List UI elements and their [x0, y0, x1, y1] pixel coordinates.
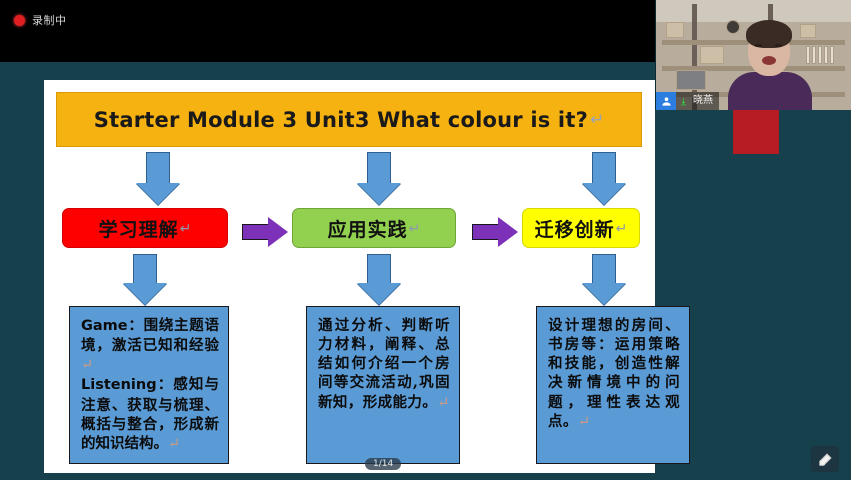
recording-indicator: 录制中 — [14, 12, 67, 28]
participant-video-tile[interactable]: 晓燕 — [655, 0, 851, 110]
user-icon[interactable] — [656, 92, 676, 110]
purple-arrow-2 — [472, 217, 518, 247]
content-box-innovation: 设计理想的房间、书房等：运用策略和技能，创造性解决新情境中的问题，理性表达观点。… — [536, 306, 690, 464]
content-box-application: 通过分析、判断听力材料，阐释、总结如何介绍一个房间等交流活动,巩固新知，形成能力… — [306, 306, 460, 464]
stage-pilcrow-2: ↵ — [409, 220, 421, 237]
content-text-learning-1: Game：围绕主题语境，激活已知和经验↵ — [81, 316, 219, 375]
purple-arrow-1 — [242, 217, 288, 247]
content-text-innovation: 设计理想的房间、书房等：运用策略和技能，创造性解决新情境中的问题，理性表达观点。… — [548, 316, 680, 432]
participant-name-label: 晓燕 — [690, 92, 719, 110]
title-pilcrow-icon: ↵ — [590, 110, 604, 130]
participant-body — [728, 72, 812, 110]
page-indicator: 1/14 — [365, 458, 401, 470]
content-box-learning: Game：围绕主题语境，激活已知和经验↵ Listening：感知与注意、获取与… — [69, 306, 229, 464]
recording-dot-icon — [14, 15, 25, 26]
participant-name-bar: 晓燕 — [656, 92, 719, 110]
red-marker-block — [733, 110, 779, 154]
content-text-learning-2: Listening：感知与注意、获取与梳理、概括与整合，形成新的知识结构。↵ — [81, 375, 219, 454]
stage-pilcrow-1: ↵ — [180, 220, 192, 237]
slide-title-box: Starter Module 3 Unit3 What colour is it… — [56, 92, 642, 147]
recording-bar: 录制中 — [0, 0, 655, 62]
download-icon[interactable] — [676, 92, 690, 110]
participant-mouth — [762, 56, 776, 65]
content-text-application: 通过分析、判断听力材料，阐释、总结如何介绍一个房间等交流活动,巩固新知，形成能力… — [318, 316, 450, 413]
stage-label-application: 应用实践 — [328, 215, 408, 242]
screen-root: 录制中 — [0, 0, 851, 480]
presentation-slide[interactable]: Starter Module 3 Unit3 What colour is it… — [44, 80, 655, 473]
stage-box-application[interactable]: 应用实践 ↵ — [292, 208, 456, 248]
stage-label-innovation: 迁移创新 — [535, 215, 615, 242]
stage-label-learning: 学习理解 — [99, 215, 179, 242]
stage-pilcrow-3: ↵ — [616, 220, 628, 237]
pen-icon[interactable] — [811, 446, 839, 472]
participant-eye-left — [755, 44, 762, 47]
stage-box-innovation[interactable]: 迁移创新 ↵ — [522, 208, 640, 248]
participant-eye-right — [775, 44, 782, 47]
stage-box-learning[interactable]: 学习理解 ↵ — [62, 208, 228, 248]
slide-title: Starter Module 3 Unit3 What colour is it… — [94, 108, 588, 132]
participant-hair — [746, 20, 792, 48]
recording-label: 录制中 — [32, 12, 67, 28]
